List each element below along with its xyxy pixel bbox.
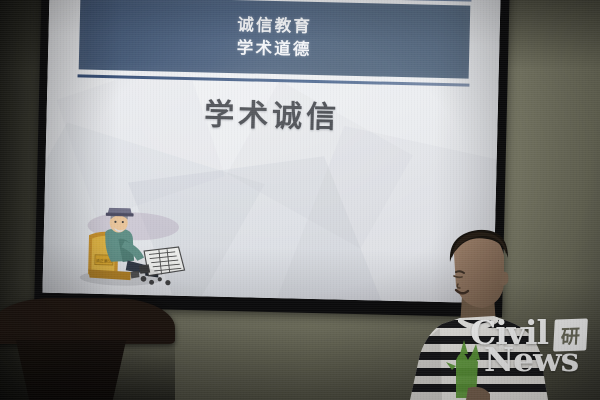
slide-header-line-2: 学术道德 (237, 37, 312, 62)
lectern-shadow (0, 328, 175, 400)
watermark-logo: Civil 民 News 研 (468, 316, 596, 390)
slide-header-band: 诚信教育 学术道德 (78, 0, 470, 79)
slide-header-line-1: 诚信教育 (237, 13, 312, 38)
photo-scene: 诚信教育 学术道德 学术诚信 清正廉洁 (0, 0, 600, 400)
slide-illustration: 清正廉洁 (63, 205, 200, 290)
watermark-badge-icon: 研 (553, 318, 588, 351)
lectern (0, 298, 175, 400)
